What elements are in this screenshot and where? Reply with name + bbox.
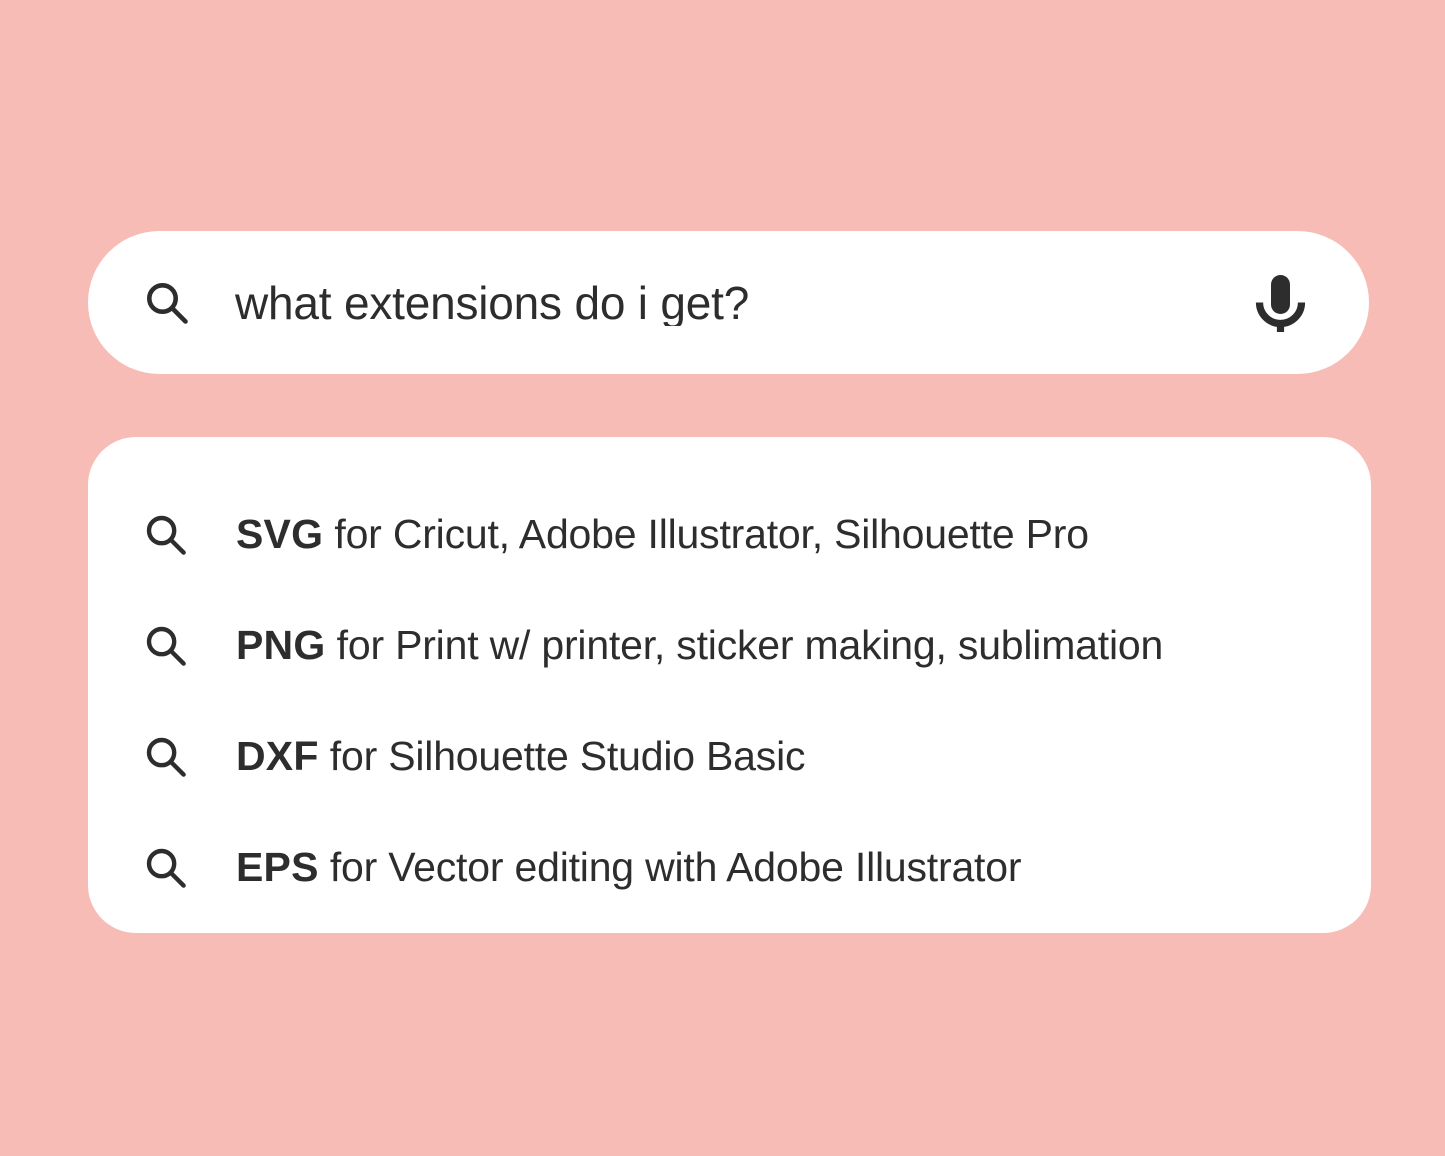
suggestion-description: for Print w/ printer, sticker making, su… [325,622,1163,668]
suggestions-panel: SVG for Cricut, Adobe Illustrator, Silho… [88,437,1371,933]
suggestion-label: PNG for Print w/ printer, sticker making… [236,625,1163,666]
suggestion-item-png[interactable]: PNG for Print w/ printer, sticker making… [88,590,1371,701]
search-icon [144,280,190,326]
search-icon [144,846,188,890]
suggestion-description: for Cricut, Adobe Illustrator, Silhouett… [323,511,1089,557]
suggestion-label: DXF for Silhouette Studio Basic [236,736,805,777]
search-bar[interactable]: what extensions do i get? [88,231,1369,374]
suggestion-item-dxf[interactable]: DXF for Silhouette Studio Basic [88,701,1371,812]
suggestion-item-eps[interactable]: EPS for Vector editing with Adobe Illust… [88,812,1371,923]
suggestion-label: SVG for Cricut, Adobe Illustrator, Silho… [236,514,1089,555]
suggestion-label: EPS for Vector editing with Adobe Illust… [236,847,1021,888]
suggestion-prefix: PNG [236,622,325,668]
search-icon [144,735,188,779]
microphone-icon[interactable] [1251,271,1309,335]
suggestion-item-svg[interactable]: SVG for Cricut, Adobe Illustrator, Silho… [88,479,1371,590]
suggestion-prefix: SVG [236,511,323,557]
search-input[interactable]: what extensions do i get? [235,280,1231,326]
suggestion-prefix: DXF [236,733,319,779]
search-icon [144,513,188,557]
suggestion-prefix: EPS [236,844,319,890]
search-icon [144,624,188,668]
suggestion-description: for Silhouette Studio Basic [319,733,806,779]
suggestion-description: for Vector editing with Adobe Illustrato… [319,844,1022,890]
